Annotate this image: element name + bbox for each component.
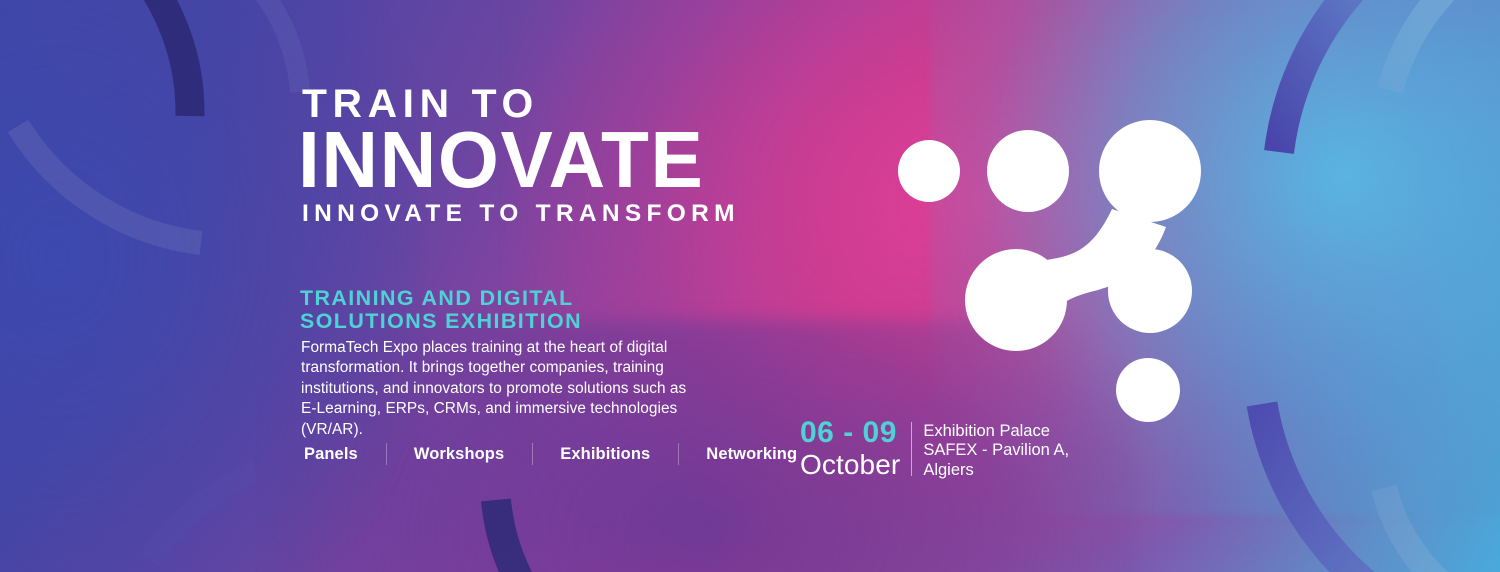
- venue-line-2: SAFEX - Pavilion A,: [923, 441, 1069, 460]
- headline-subline: INNOVATE TO TRANSFORM: [302, 202, 740, 226]
- banner-content: TRAIN TO INNOVATE INNOVATE TO TRANSFORM …: [0, 0, 1500, 572]
- venue-line-1: Exhibition Palace: [923, 422, 1069, 441]
- tag-list: Panels Workshops Exhibitions Networking: [298, 441, 825, 468]
- tag-workshops[interactable]: Workshops: [386, 441, 532, 468]
- event-date-venue: 06 - 09 October Exhibition Palace SAFEX …: [800, 418, 1069, 480]
- event-date-month: October: [800, 450, 900, 479]
- section-body: FormaTech Expo places training at the he…: [301, 338, 701, 440]
- tag-exhibitions[interactable]: Exhibitions: [532, 441, 678, 468]
- event-date-days: 06 - 09: [800, 418, 900, 448]
- tag-panels[interactable]: Panels: [298, 441, 386, 468]
- venue-line-3: Algiers: [923, 461, 1069, 480]
- headline-main: INNOVATE: [298, 120, 704, 200]
- date-venue-divider: [911, 422, 912, 476]
- event-date: 06 - 09 October: [800, 418, 900, 479]
- section-heading: TRAINING AND DIGITAL SOLUTIONS EXHIBITIO…: [300, 288, 688, 333]
- formatech-expo-banner: TRAIN TO INNOVATE INNOVATE TO TRANSFORM …: [0, 0, 1500, 572]
- event-venue: Exhibition Palace SAFEX - Pavilion A, Al…: [923, 418, 1069, 480]
